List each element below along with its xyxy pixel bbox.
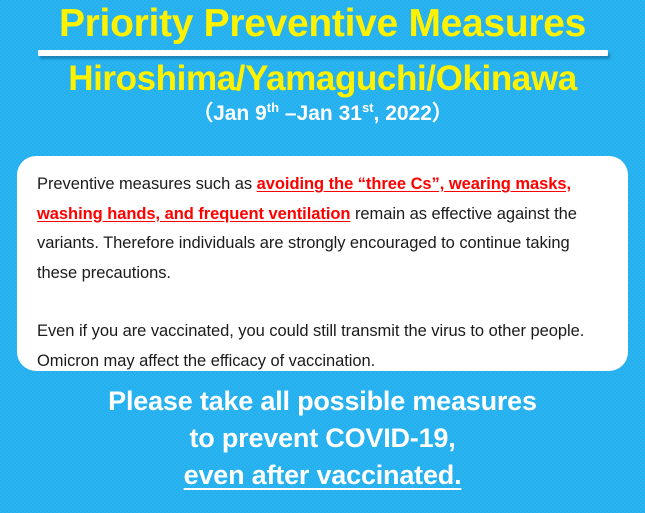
cta-line-3: even after vaccinated. <box>0 457 645 494</box>
card-paragraph-2: Even if you are vaccinated, you could st… <box>37 317 608 376</box>
date-start: Jan 9 <box>213 102 267 125</box>
cta-line-1: Please take all possible measures <box>0 383 645 420</box>
message-card: Preventive measures such as avoiding the… <box>17 156 628 371</box>
cta-line-2: to prevent COVID-19, <box>0 420 645 457</box>
poster-header: Priority Preventive Measures Hiroshima/Y… <box>0 0 645 127</box>
date-dash: – <box>279 102 297 125</box>
date-end: Jan 31 <box>297 102 362 125</box>
paragraph1-lead: Preventive measures such as <box>37 175 257 193</box>
date-start-ordinal: th <box>267 100 279 115</box>
date-close-paren: ） <box>432 102 453 125</box>
card-paragraph-1: Preventive measures such as avoiding the… <box>37 170 608 288</box>
call-to-action: Please take all possible measures to pre… <box>0 383 645 494</box>
date-open-paren: （ <box>192 102 213 125</box>
page-subtitle-regions: Hiroshima/Yamaguchi/Okinawa <box>0 59 645 99</box>
poster-root: Priority Preventive Measures Hiroshima/Y… <box>0 0 645 513</box>
date-year: , 2022 <box>374 102 432 125</box>
page-title: Priority Preventive Measures <box>0 0 645 46</box>
date-range: （Jan 9th –Jan 31st, 2022） <box>0 100 645 127</box>
title-divider <box>38 50 608 56</box>
date-end-ordinal: st <box>362 100 374 115</box>
